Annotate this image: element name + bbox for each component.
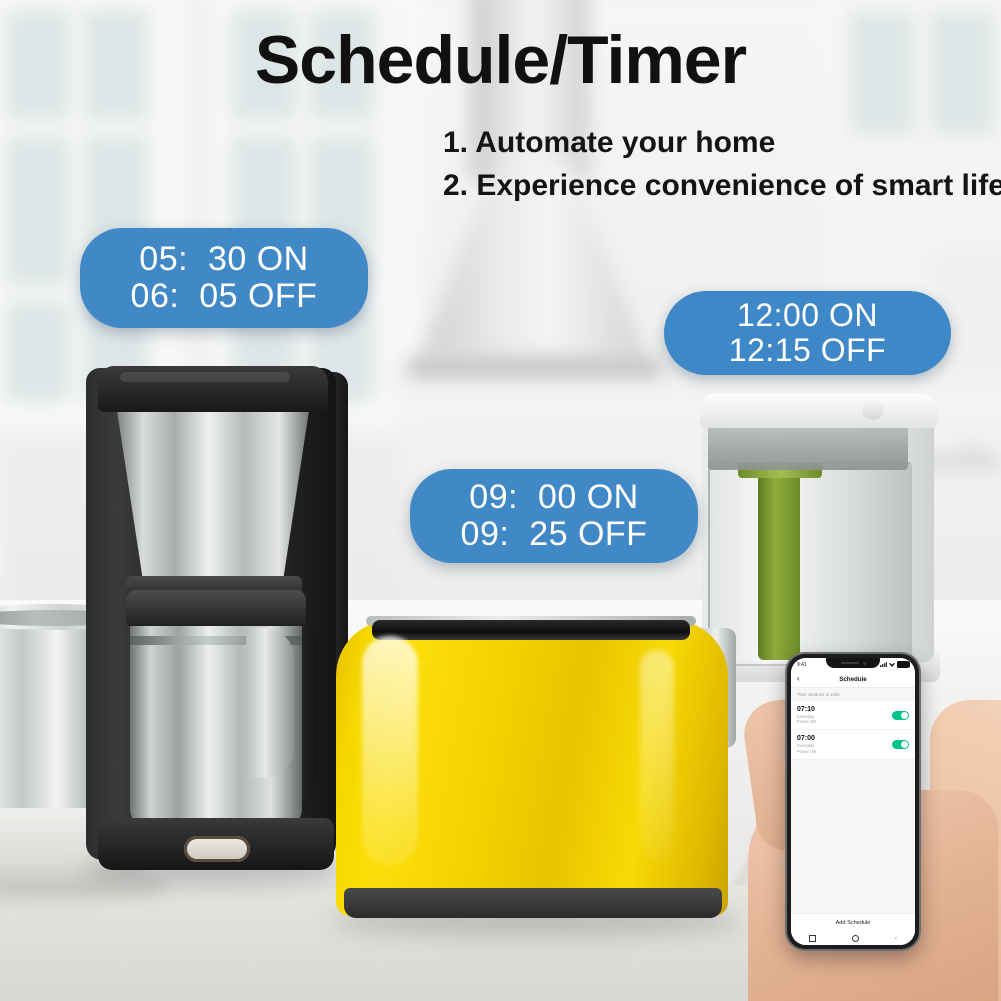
coffee-maker-lid-highlight	[120, 372, 290, 382]
toggle-knob	[901, 712, 908, 719]
earpiece-speaker-icon	[841, 662, 859, 664]
badge-line-off: 09: 25 OFF	[461, 516, 648, 553]
schedule-action: Power ON	[797, 720, 816, 724]
badge-line-on: 05: 30 ON	[139, 241, 308, 278]
promo-image: 9:41 ‹ Schedule Time variance is ±30s	[0, 0, 1001, 1001]
subtitle-line-1: 1. Automate your home	[443, 122, 1001, 165]
schedule-toggle[interactable]	[892, 740, 909, 749]
schedule-badge-3: 09: 00 ON 09: 25 OFF	[410, 469, 698, 563]
wifi-icon	[889, 662, 895, 667]
carafe-handle-cutout	[246, 628, 294, 778]
schedule-badge-1: 05: 30 ON 06: 05 OFF	[80, 228, 368, 328]
subtitle-list: 1. Automate your home 2. Experience conv…	[443, 122, 1001, 207]
schedule-action: Power ON	[797, 750, 816, 754]
signal-icon	[880, 662, 887, 667]
toggle-knob	[901, 741, 908, 748]
schedule-meta: 07:10 Everyday Power ON	[797, 706, 816, 724]
page-title: Schedule	[839, 676, 867, 683]
chevron-left-icon[interactable]: ‹	[797, 675, 800, 683]
toaster-foot	[344, 888, 722, 918]
add-schedule-label: Add Schedule	[836, 920, 871, 926]
notch	[826, 658, 880, 668]
schedule-time: 07:00	[797, 735, 816, 742]
food-processor-lid	[700, 394, 938, 428]
battery-icon	[897, 661, 909, 668]
back-chevron-icon[interactable]: ‹	[895, 936, 897, 942]
coffee-maker-water-tank	[116, 404, 310, 582]
subtitle-line-2: 2. Experience convenience of smart life	[443, 165, 1001, 208]
toaster-highlight-left	[362, 636, 418, 866]
schedule-meta: 07:00 Everyday Power ON	[797, 735, 816, 753]
food-processor-knob[interactable]	[862, 400, 884, 420]
coffee-maker-power-button[interactable]	[184, 836, 250, 862]
home-circle-icon[interactable]	[852, 935, 859, 942]
badge-line-off: 12:15 OFF	[729, 333, 886, 368]
schedule-row[interactable]: 07:10 Everyday Power ON	[791, 701, 915, 730]
status-icons	[880, 661, 909, 668]
badge-line-on: 09: 00 ON	[469, 479, 638, 516]
front-camera-icon	[863, 662, 866, 665]
headline: Schedule/Timer	[0, 21, 1001, 99]
carafe-lid	[126, 590, 306, 626]
schedule-repeat: Everyday	[797, 715, 816, 719]
badge-line-on: 12:00 ON	[737, 298, 878, 333]
empty-list-area	[791, 760, 915, 913]
time-variance-hint: Time variance is ±30s	[791, 688, 915, 701]
add-schedule-button[interactable]: Add Schedule	[791, 913, 915, 932]
schedule-time: 07:10	[797, 706, 816, 713]
android-navigation-bar: ‹	[791, 932, 915, 945]
badge-line-off: 06: 05 OFF	[131, 278, 318, 315]
schedule-row[interactable]: 07:00 Everyday Power ON	[791, 730, 915, 759]
toaster-highlight-right	[640, 650, 674, 860]
app-navbar: ‹ Schedule	[791, 671, 915, 688]
wall-knob	[955, 440, 981, 466]
phone-screen: 9:41 ‹ Schedule Time variance is ±30s	[791, 658, 915, 945]
schedule-badge-2: 12:00 ON 12:15 OFF	[664, 291, 951, 375]
status-time: 9:41	[797, 662, 807, 668]
schedule-list: 07:10 Everyday Power ON 07:00 Everyday P…	[791, 701, 915, 760]
recents-square-icon[interactable]	[809, 935, 816, 942]
food-processor-collar	[708, 424, 908, 470]
schedule-repeat: Everyday	[797, 744, 816, 748]
smartphone: 9:41 ‹ Schedule Time variance is ±30s	[787, 654, 919, 949]
schedule-toggle[interactable]	[892, 711, 909, 720]
status-bar: 9:41	[791, 658, 915, 671]
food-processor-green-contents	[758, 470, 800, 660]
food-processor-jar	[708, 462, 912, 666]
toaster-slot	[372, 620, 690, 640]
